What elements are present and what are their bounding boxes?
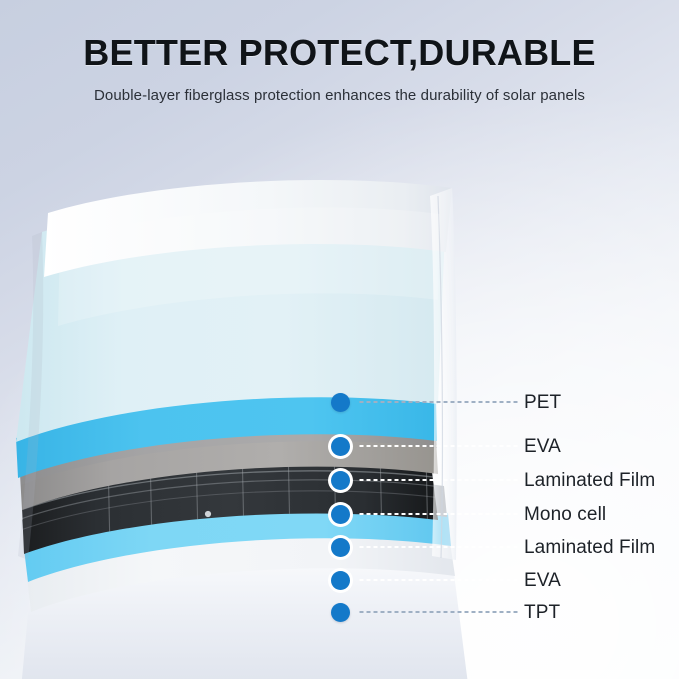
callout-label: EVA [524,437,561,456]
callout-dot-icon[interactable] [331,505,350,524]
callout-leader-line [358,579,518,581]
callout-laminated-film[interactable]: Laminated Film [331,469,655,491]
callout-dot-icon[interactable] [331,571,350,590]
callout-leader-line [358,513,518,515]
callout-label: PET [524,393,561,412]
callout-dot-icon[interactable] [331,538,350,557]
callout-leader-line [358,401,518,403]
callout-label: Mono cell [524,505,606,524]
callout-mono-cell[interactable]: Mono cell [331,503,606,525]
callout-laminated-film[interactable]: Laminated Film [331,536,655,558]
callout-dot-icon[interactable] [331,437,350,456]
callout-eva[interactable]: EVA [331,435,561,457]
infographic-canvas: BETTER PROTECT,DURABLE Double-layer fibe… [0,0,679,679]
callout-label: TPT [524,603,560,622]
callout-tpt[interactable]: TPT [331,601,560,623]
callout-label: Laminated Film [524,471,655,490]
callout-leader-line [358,445,518,447]
callout-label: Laminated Film [524,538,655,557]
callout-leader-line [358,479,518,481]
callout-dot-icon[interactable] [331,393,350,412]
callout-eva[interactable]: EVA [331,569,561,591]
callout-leader-line [358,546,518,548]
callout-dot-icon[interactable] [331,603,350,622]
callout-pet[interactable]: PET [331,391,561,413]
callout-dot-icon[interactable] [331,471,350,490]
callout-label: EVA [524,571,561,590]
callout-list: PETEVALaminated FilmMono cellLaminated F… [0,0,679,679]
callout-leader-line [358,611,518,613]
